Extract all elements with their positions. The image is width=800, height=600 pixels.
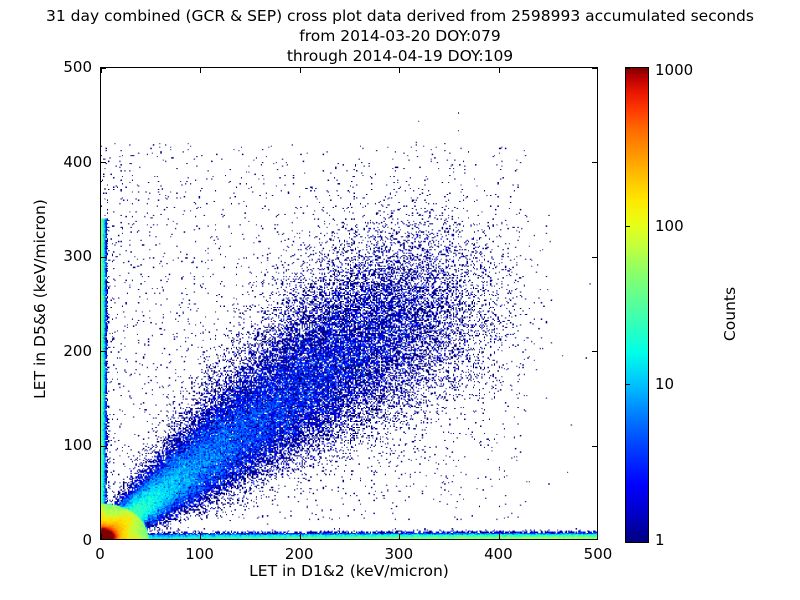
y-tick-right-400 bbox=[592, 162, 597, 163]
x-tick-200 bbox=[300, 534, 301, 539]
colorbar-ticklabel-1000: 1000 bbox=[655, 61, 693, 79]
heatmap-data-layer bbox=[101, 68, 597, 539]
colorbar-ticklabel-100: 100 bbox=[655, 217, 684, 235]
y-axis-label: LET in D5&6 (keV/micron) bbox=[31, 139, 49, 459]
colorbar-gradient bbox=[626, 68, 648, 542]
y-tick-100 bbox=[101, 446, 106, 447]
x-ticklabel-200: 200 bbox=[285, 545, 314, 563]
colorbar-tick-1000 bbox=[625, 68, 630, 69]
x-tick-top-100 bbox=[200, 68, 201, 73]
figure-canvas: 31 day combined (GCR & SEP) cross plot d… bbox=[0, 0, 800, 600]
x-tick-0 bbox=[100, 534, 101, 539]
x-tick-300 bbox=[399, 534, 400, 539]
y-tick-right-100 bbox=[592, 446, 597, 447]
y-tick-200 bbox=[101, 351, 106, 352]
colorbar-label: Counts bbox=[721, 214, 739, 414]
x-tick-400 bbox=[499, 534, 500, 539]
colorbar-ticklabel-1: 1 bbox=[655, 531, 665, 549]
title-line-1: 31 day combined (GCR & SEP) cross plot d… bbox=[0, 6, 800, 26]
x-ticklabel-100: 100 bbox=[185, 545, 214, 563]
x-ticklabel-500: 500 bbox=[584, 545, 613, 563]
colorbar-tick-100 bbox=[625, 226, 630, 227]
colorbar-tick-10 bbox=[625, 384, 630, 385]
y-tick-right-500 bbox=[592, 67, 597, 68]
y-tick-300 bbox=[101, 257, 106, 258]
y-tick-500 bbox=[101, 67, 106, 68]
x-tick-top-400 bbox=[499, 68, 500, 73]
x-ticklabel-300: 300 bbox=[384, 545, 413, 563]
colorbar[interactable] bbox=[625, 67, 649, 543]
x-tick-top-0 bbox=[100, 68, 101, 73]
y-tick-400 bbox=[101, 162, 106, 163]
x-tick-top-300 bbox=[399, 68, 400, 73]
chart-title: 31 day combined (GCR & SEP) cross plot d… bbox=[0, 6, 800, 66]
y-ticklabel-300: 300 bbox=[44, 247, 92, 265]
y-ticklabel-400: 400 bbox=[44, 153, 92, 171]
y-ticklabel-200: 200 bbox=[44, 342, 92, 360]
y-tick-right-300 bbox=[592, 257, 597, 258]
x-ticklabel-400: 400 bbox=[484, 545, 513, 563]
title-line-2: from 2014-03-20 DOY:079 bbox=[0, 26, 800, 46]
colorbar-ticklabel-10: 10 bbox=[655, 375, 674, 393]
colorbar-tick-1 bbox=[625, 542, 630, 543]
x-tick-100 bbox=[200, 534, 201, 539]
y-ticklabel-100: 100 bbox=[44, 436, 92, 454]
x-axis-label: LET in D1&2 (keV/micron) bbox=[100, 562, 598, 580]
x-tick-top-200 bbox=[300, 68, 301, 73]
plot-area[interactable] bbox=[100, 67, 598, 540]
x-ticklabel-0: 0 bbox=[95, 545, 105, 563]
y-tick-right-200 bbox=[592, 351, 597, 352]
y-ticklabel-500: 500 bbox=[44, 58, 92, 76]
y-ticklabel-0: 0 bbox=[44, 531, 92, 549]
